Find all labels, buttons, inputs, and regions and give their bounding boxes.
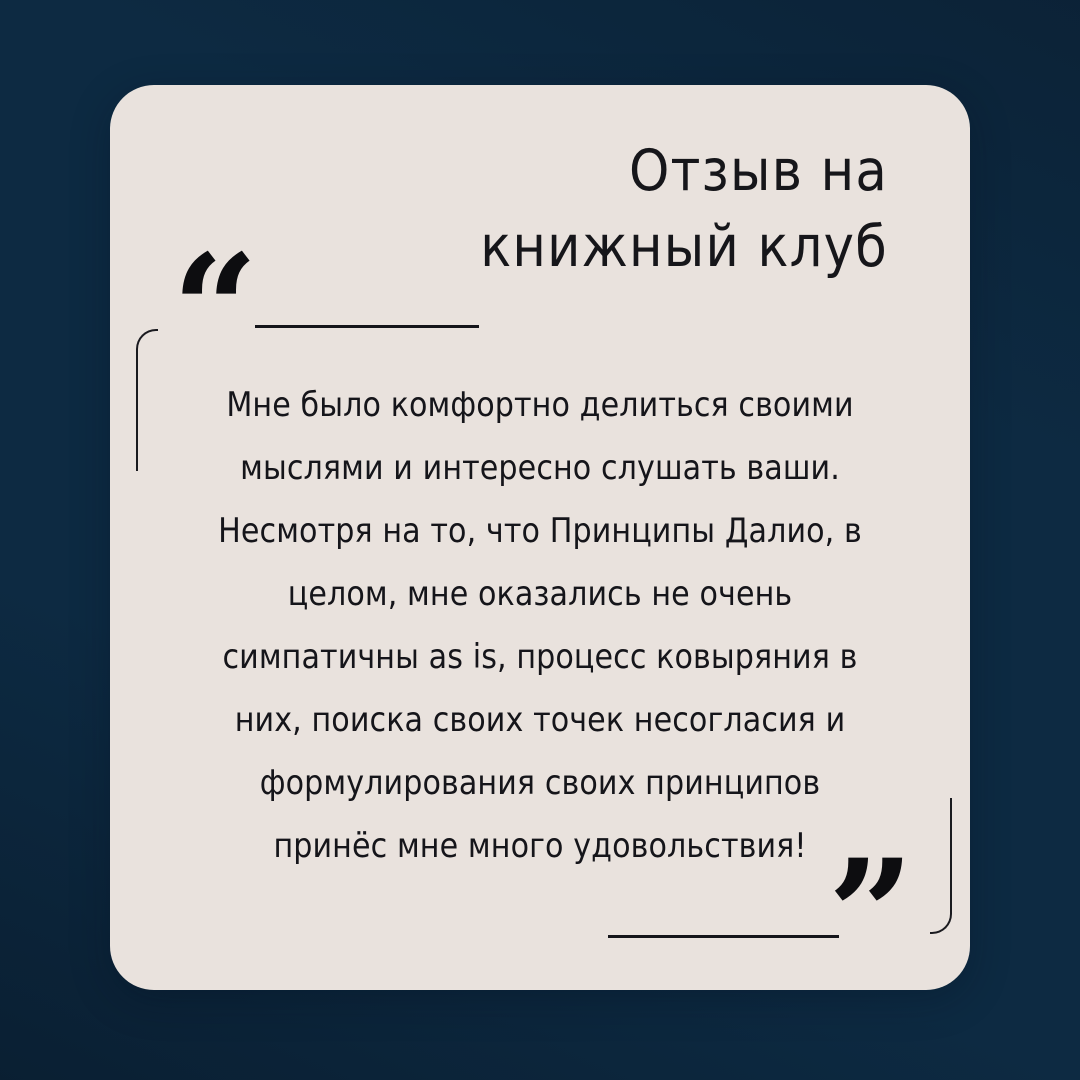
- testimonial-text: Мне было комфортно делиться своими мысля…: [172, 373, 908, 877]
- closing-quote-icon: ”: [828, 840, 912, 990]
- quote-line: симпатичны as is, процесс ковыряния в: [172, 625, 908, 688]
- bracket-right-decoration: [930, 798, 952, 934]
- quote-line: мыслями и интересно слушать ваши.: [172, 436, 908, 499]
- divider-rule-bottom: [608, 935, 839, 938]
- quote-line: них, поиска своих точек несогласия и: [172, 688, 908, 751]
- card-title: Отзыв на книжный клуб: [248, 133, 888, 285]
- card-title-line-1: Отзыв на: [248, 133, 888, 209]
- divider-rule-top: [255, 325, 479, 328]
- quote-line: формулирования своих принципов: [172, 751, 908, 814]
- slide-canvas: Отзыв на книжный клуб “ Мне было комфорт…: [0, 0, 1080, 1080]
- card-title-line-2: книжный клуб: [248, 209, 888, 285]
- opening-quote-icon: “: [172, 235, 256, 385]
- quote-line: Несмотря на то, что Принципы Далио, в: [172, 499, 908, 562]
- bracket-left-decoration: [136, 329, 158, 471]
- quote-line: принёс мне много удовольствия!: [172, 814, 908, 877]
- testimonial-card: Отзыв на книжный клуб “ Мне было комфорт…: [110, 85, 970, 990]
- quote-line: Мне было комфортно делиться своими: [172, 373, 908, 436]
- quote-line: целом, мне оказались не очень: [172, 562, 908, 625]
